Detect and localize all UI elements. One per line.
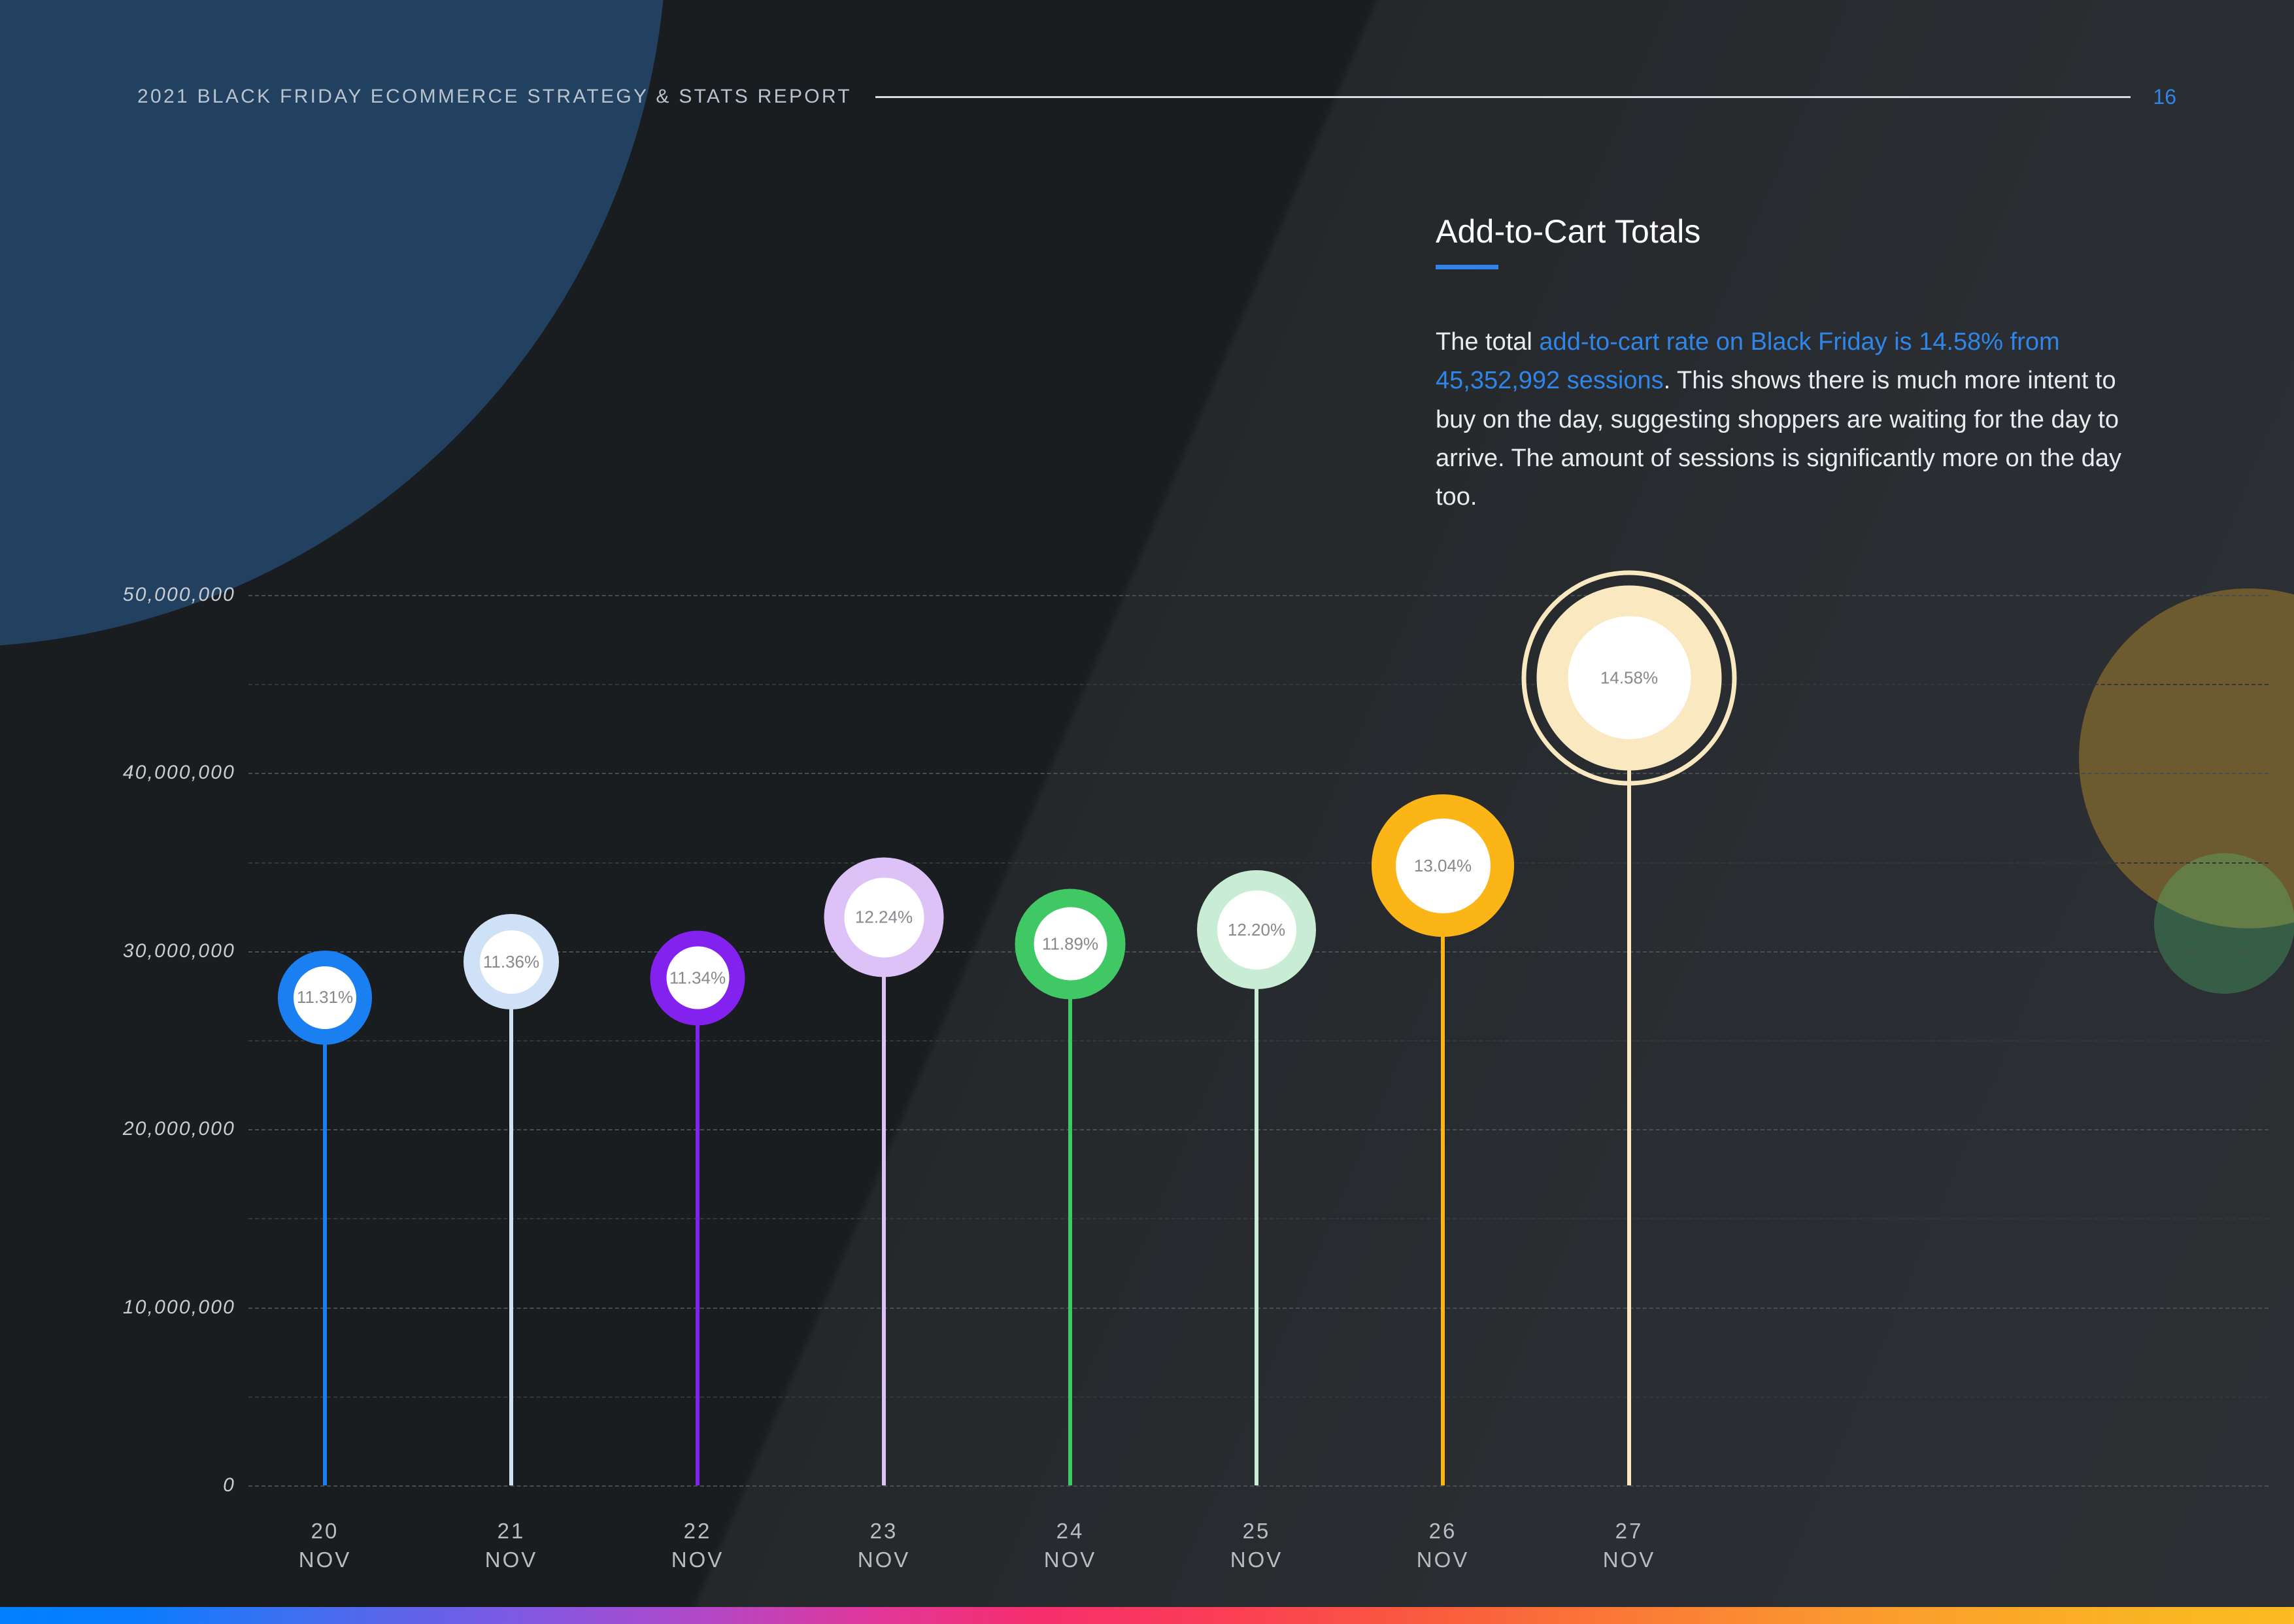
- x-axis-month: NOV: [253, 1546, 397, 1574]
- data-point-bubble[interactable]: 12.24%: [824, 858, 944, 977]
- x-axis-month: NOV: [439, 1546, 583, 1574]
- x-axis-month: NOV: [626, 1546, 769, 1574]
- x-axis-tick-label: 24NOV: [998, 1517, 1142, 1574]
- y-axis-label: 20,000,000: [39, 1118, 235, 1140]
- y-axis-label: 0: [39, 1474, 235, 1497]
- gridline-major: [248, 773, 2269, 774]
- data-point-bubble-inner: 12.20%: [1217, 890, 1296, 970]
- data-point-bubble[interactable]: 11.36%: [464, 914, 559, 1009]
- gridline-minor: [248, 1218, 2269, 1219]
- data-point-bubble-inner: 12.24%: [844, 877, 924, 957]
- data-point-value-label: 11.89%: [1042, 934, 1098, 954]
- x-axis-tick-label: 23NOV: [812, 1517, 956, 1574]
- data-point-bubble-inner: 11.89%: [1034, 907, 1107, 981]
- data-point-bubble-inner: 14.58%: [1568, 617, 1691, 739]
- data-point-value-label: 12.20%: [1228, 920, 1285, 940]
- x-axis-tick-label: 25NOV: [1185, 1517, 1328, 1574]
- x-axis-tick-label: 20NOV: [253, 1517, 397, 1574]
- data-point-value-label: 11.36%: [483, 952, 539, 972]
- data-point-value-label: 12.24%: [855, 907, 913, 928]
- slide-canvas: 2021 BLACK FRIDAY ECOMMERCE STRATEGY & S…: [0, 0, 2294, 1624]
- lollipop-stem: [323, 998, 327, 1485]
- x-axis-month: NOV: [812, 1546, 956, 1574]
- x-axis-day: 23: [812, 1517, 956, 1546]
- gridline-major: [248, 1129, 2269, 1130]
- gridline-major: [248, 595, 2269, 596]
- x-axis-tick-label: 27NOV: [1557, 1517, 1701, 1574]
- y-axis-label: 50,000,000: [39, 584, 235, 606]
- data-point-value-label: 13.04%: [1414, 856, 1472, 876]
- lollipop-stem: [1068, 944, 1072, 1485]
- gridline-major: [248, 1308, 2269, 1309]
- data-point-bubble[interactable]: 12.20%: [1197, 870, 1316, 989]
- gridline-minor: [248, 1040, 2269, 1041]
- data-point-bubble[interactable]: 11.31%: [278, 951, 372, 1045]
- x-axis-tick-label: 22NOV: [626, 1517, 769, 1574]
- data-point-bubble[interactable]: 14.58%: [1537, 585, 1722, 770]
- lollipop-stem: [1627, 678, 1631, 1485]
- gridline-major: [248, 1485, 2269, 1487]
- lollipop-stem: [1441, 866, 1445, 1485]
- y-axis-label: 30,000,000: [39, 940, 235, 962]
- gridline-minor: [248, 1396, 2269, 1398]
- x-axis-day: 21: [439, 1517, 583, 1546]
- lollipop-chart: 50,000,00040,000,00030,000,00020,000,000…: [0, 0, 2294, 1624]
- data-point-bubble-inner: 11.36%: [480, 930, 543, 994]
- lollipop-stem: [882, 917, 886, 1485]
- x-axis-day: 25: [1185, 1517, 1328, 1546]
- data-point-bubble-inner: 11.31%: [294, 966, 356, 1029]
- data-point-bubble[interactable]: 11.34%: [650, 930, 745, 1025]
- y-axis-label: 40,000,000: [39, 762, 235, 784]
- x-axis-month: NOV: [1557, 1546, 1701, 1574]
- data-point-bubble-inner: 11.34%: [666, 947, 729, 1009]
- data-point-value-label: 11.31%: [297, 987, 353, 1007]
- data-point-value-label: 14.58%: [1600, 668, 1658, 688]
- gridline-minor: [248, 862, 2269, 864]
- gridline-minor: [248, 684, 2269, 685]
- x-axis-day: 20: [253, 1517, 397, 1546]
- x-axis-day: 24: [998, 1517, 1142, 1546]
- x-axis-month: NOV: [998, 1546, 1142, 1574]
- x-axis-month: NOV: [1185, 1546, 1328, 1574]
- x-axis-day: 27: [1557, 1517, 1701, 1546]
- data-point-bubble[interactable]: 11.89%: [1015, 888, 1126, 999]
- x-axis-month: NOV: [1371, 1546, 1515, 1574]
- x-axis-day: 26: [1371, 1517, 1515, 1546]
- lollipop-stem: [696, 978, 700, 1485]
- data-point-bubble[interactable]: 13.04%: [1372, 794, 1514, 937]
- y-axis-label: 10,000,000: [39, 1296, 235, 1319]
- x-axis-tick-label: 26NOV: [1371, 1517, 1515, 1574]
- bottom-gradient-bar: [0, 1607, 2294, 1624]
- x-axis-day: 22: [626, 1517, 769, 1546]
- lollipop-stem: [1255, 930, 1258, 1485]
- data-point-value-label: 11.34%: [669, 968, 726, 988]
- lollipop-stem: [509, 962, 513, 1485]
- data-point-bubble-inner: 13.04%: [1396, 819, 1491, 913]
- x-axis-tick-label: 21NOV: [439, 1517, 583, 1574]
